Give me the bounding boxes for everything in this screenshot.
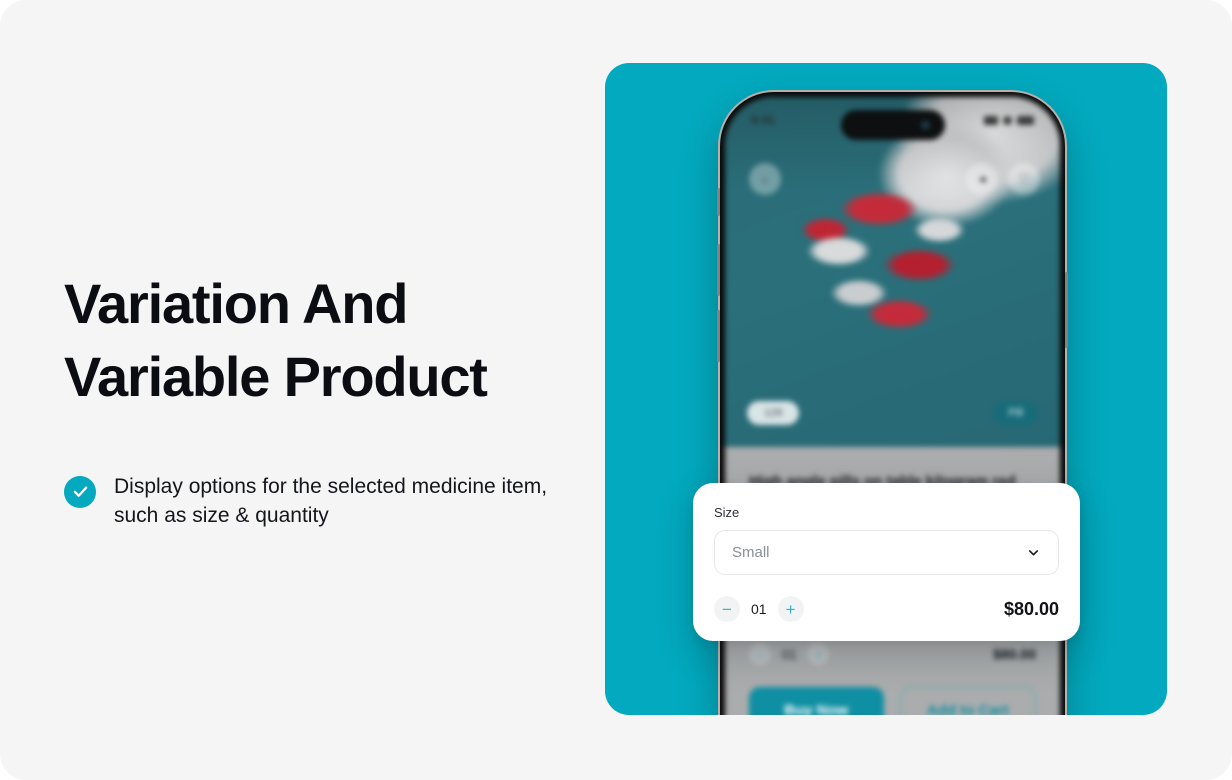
size-label: Size bbox=[714, 505, 1059, 520]
volume-down-button bbox=[717, 310, 720, 362]
phone-quantity-value: 01 bbox=[782, 647, 796, 662]
power-button bbox=[1065, 272, 1068, 348]
phone-action-row: Buy Now Add to Cart bbox=[749, 687, 1036, 715]
volume-up-button bbox=[717, 244, 720, 296]
share-button[interactable]: ◂ bbox=[966, 163, 998, 195]
status-icons bbox=[984, 116, 1034, 125]
wifi-icon bbox=[1003, 116, 1012, 125]
product-image: 9:41 ‹ ◂ ♡ bbox=[725, 97, 1060, 447]
signal-icon bbox=[984, 116, 998, 125]
phone-increment-button[interactable]: + bbox=[807, 643, 829, 665]
share-icon: ◂ bbox=[979, 171, 986, 187]
variation-card: Size Small − 01 + $80.00 bbox=[693, 483, 1080, 641]
copy-block: Variation And Variable Product Display o… bbox=[64, 268, 584, 531]
image-chips-row: 128 Pill bbox=[725, 387, 1060, 439]
front-camera-icon bbox=[921, 121, 930, 130]
favorite-button[interactable]: ♡ bbox=[1008, 163, 1040, 195]
chevron-down-icon bbox=[1026, 545, 1041, 560]
check-circle-icon bbox=[64, 476, 96, 508]
quantity-row: − 01 + $80.00 bbox=[714, 596, 1059, 622]
back-button[interactable]: ‹ bbox=[749, 163, 781, 195]
buy-now-button[interactable]: Buy Now bbox=[749, 687, 884, 715]
chip-category: Pill bbox=[993, 401, 1038, 425]
chevron-left-icon: ‹ bbox=[763, 172, 767, 187]
size-select[interactable]: Small bbox=[714, 530, 1059, 575]
slide-root: Variation And Variable Product Display o… bbox=[0, 0, 1232, 780]
price-value: $80.00 bbox=[1004, 599, 1059, 620]
feature-item: Display options for the selected medicin… bbox=[64, 472, 584, 532]
status-time: 9:41 bbox=[751, 113, 775, 127]
phone-quantity-stepper[interactable]: − 01 + bbox=[749, 643, 829, 665]
silence-switch bbox=[717, 188, 720, 216]
heart-icon: ♡ bbox=[1018, 171, 1030, 187]
add-to-cart-button[interactable]: Add to Cart bbox=[900, 687, 1037, 715]
chip-count: 128 bbox=[747, 401, 799, 425]
page-title: Variation And Variable Product bbox=[64, 268, 584, 414]
quantity-value: 01 bbox=[751, 601, 767, 617]
increment-button[interactable]: + bbox=[778, 596, 804, 622]
phone-price: $80.00 bbox=[993, 646, 1036, 662]
battery-icon bbox=[1017, 116, 1034, 125]
feature-description: Display options for the selected medicin… bbox=[114, 472, 562, 532]
phone-quantity-row: − 01 + $80.00 bbox=[749, 643, 1036, 665]
decrement-button[interactable]: − bbox=[714, 596, 740, 622]
dynamic-island bbox=[841, 110, 945, 140]
size-selected-value: Small bbox=[732, 544, 770, 561]
phone-decrement-button[interactable]: − bbox=[749, 643, 771, 665]
quantity-stepper[interactable]: − 01 + bbox=[714, 596, 804, 622]
